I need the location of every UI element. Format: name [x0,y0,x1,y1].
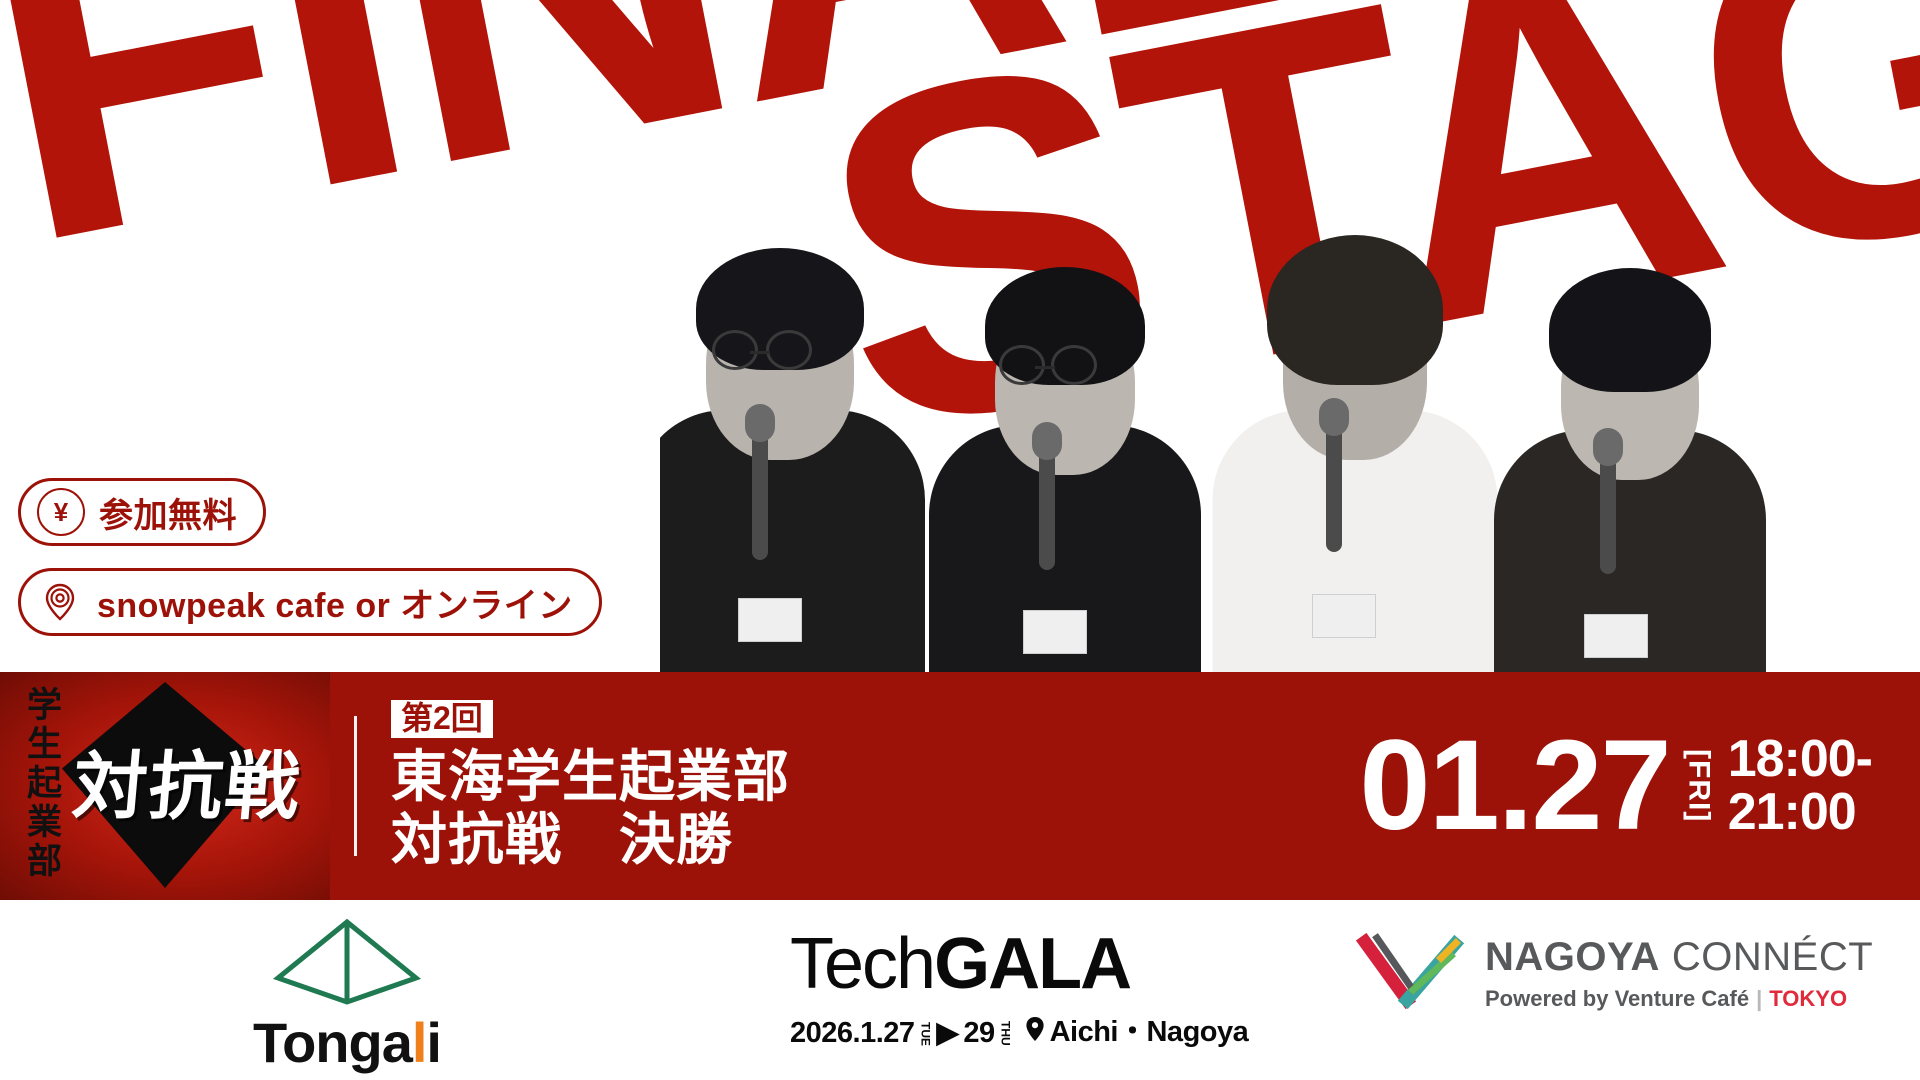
event-date: 01.27 [1359,728,1669,843]
event-poster: FINAL STAGE [0,0,1920,1080]
nagoya-name-bold: NAGOYA [1485,935,1660,979]
logo-techgala: TechGALA 2026.1.27 TUE ▶ 29 THU Aichi・Na… [790,928,1248,1050]
tongali-pyramid-icon [272,916,422,1008]
info-pills: ¥ 参加無料 snowpeak cafe or オンライン [18,478,602,658]
nagoya-separator: | [1756,986,1762,1011]
techgala-date-end-dow: THU [1000,1021,1012,1046]
banner-title-block: 第2回 東海学生起業部 対抗戦 決勝 [391,700,790,871]
event-time-end: 21:00 [1728,786,1872,839]
event-day-of-week: [FRI] [1684,749,1714,822]
nagoya-connect-check-icon [1355,928,1467,1020]
nagoya-powered-by: Powered by Venture Café [1485,986,1749,1011]
nagoya-connect-tagline: Powered by Venture Café|TOKYO [1485,986,1873,1012]
tongali-name-part2: i [426,1011,441,1074]
techgala-date-start-dow: TUE [920,1022,932,1046]
sponsor-footer: Tongali TechGALA 2026.1.27 TUE ▶ 29 THU … [0,900,1920,1080]
event-time-block: 18:00- 21:00 [1728,733,1872,839]
yen-icon: ¥ [37,488,85,536]
emblem-brush-text: 対抗戦 [49,750,325,824]
nagoya-city: TOKYO [1769,986,1847,1011]
techgala-date-start: 2026.1.27 [790,1017,915,1050]
nagoya-name-light: CONNÉCT [1672,935,1873,979]
tongali-wordmark: Tongali [252,1015,442,1071]
event-title-line2: 対抗戦 決勝 [391,809,790,872]
techgala-name-bold: GALA [934,924,1130,1004]
techgala-location: Aichi・Nagoya [1050,1008,1249,1050]
techgala-name-light: Tech [790,924,934,1004]
pill-admission: ¥ 参加無料 [18,478,266,546]
pill-venue: snowpeak cafe or オンライン [18,568,602,636]
date-time-block: 01.27 [FRI] 18:00- 21:00 [1359,728,1920,843]
techgala-date-end: 29 [963,1017,994,1050]
event-banner: 学生起業部 対抗戦 第2回 東海学生起業部 対抗戦 決勝 01.27 [FRI]… [0,672,1920,900]
techgala-wordmark: TechGALA [790,928,1248,1000]
logo-tongali: Tongali [252,916,442,1071]
event-time-start: 18:00- [1728,733,1872,786]
nagoya-connect-copy: NAGOYACONNÉCT Powered by Venture Café|TO… [1485,937,1873,1012]
location-pin-icon [37,579,83,625]
techgala-pin-icon [1025,1016,1045,1050]
pill-venue-label: snowpeak cafe or オンライン [97,578,573,627]
banner-divider [354,716,357,856]
nagoya-connect-wordmark: NAGOYACONNÉCT [1485,937,1873,977]
logo-nagoya-connect: NAGOYACONNÉCT Powered by Venture Café|TO… [1355,928,1873,1020]
pill-admission-label: 参加無料 [99,488,237,537]
techgala-arrow-icon: ▶ [937,1015,959,1050]
event-title-line1: 東海学生起業部 [391,746,790,809]
techgala-dateline: 2026.1.27 TUE ▶ 29 THU Aichi・Nagoya [790,1008,1248,1050]
edition-badge: 第2回 [391,700,493,738]
taikousen-emblem: 学生起業部 対抗戦 [0,672,330,900]
tongali-name-part1: Tonga [253,1011,412,1074]
tongali-name-accent: l [412,1011,427,1074]
